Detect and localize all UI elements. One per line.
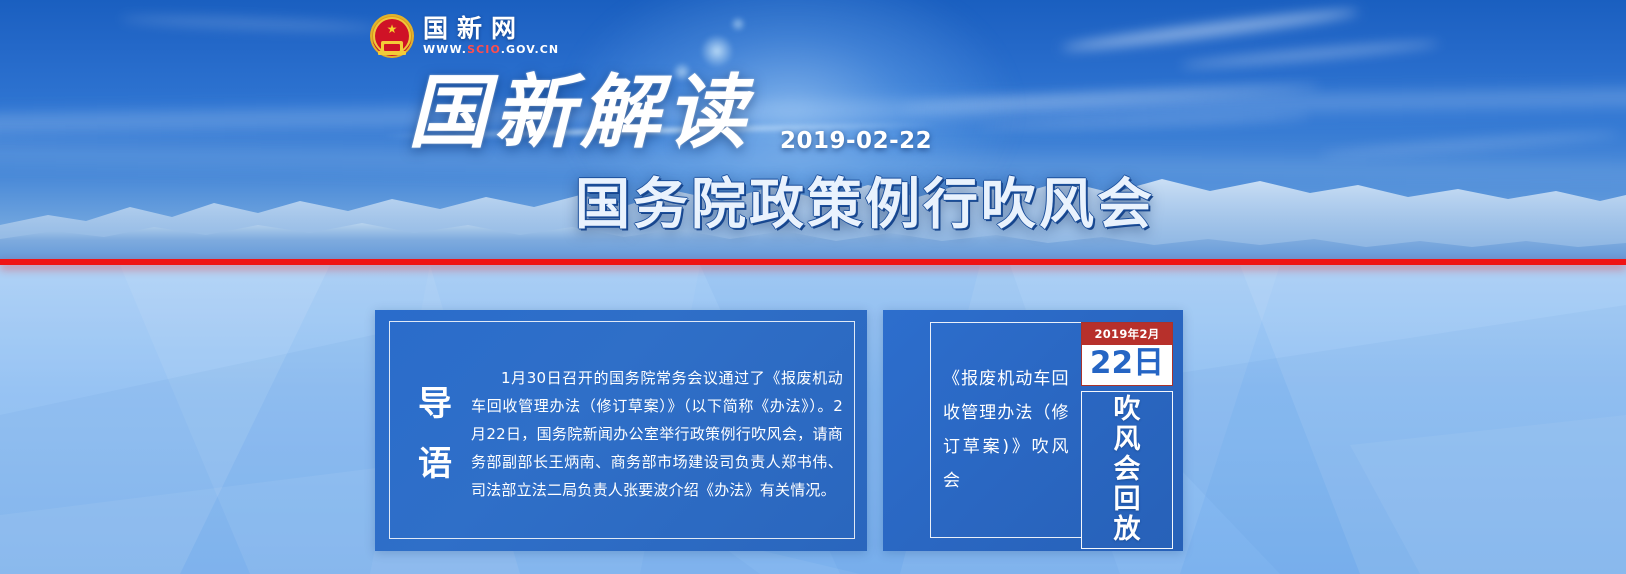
logo-site-url: WWW.SCIO.GOV.CN — [423, 43, 559, 56]
replay-char-4: 回 — [1114, 485, 1141, 515]
light-flare-dot — [672, 62, 692, 82]
date-badge: 2019年2月 22日 — [1081, 322, 1173, 386]
topic-title-box: 《报废机动车回收管理办法（修订草案)》吹风会 — [930, 322, 1081, 538]
topic-side-column: 2019年2月 22日 吹 风 会 回 放 — [1081, 322, 1173, 538]
replay-char-5: 放 — [1114, 515, 1141, 545]
logo-site-name: 国新网 — [423, 16, 559, 42]
logo-text-block: 国新网 WWW.SCIO.GOV.CN — [423, 16, 559, 56]
site-logo[interactable]: ★ 国新网 WWW.SCIO.GOV.CN — [370, 14, 559, 58]
cloud-wisp — [1180, 39, 1440, 71]
replay-char-1: 吹 — [1114, 395, 1141, 425]
cloud-wisp — [120, 13, 380, 33]
logo-url-highlight: SCIO — [467, 43, 501, 56]
national-emblem-icon: ★ — [370, 14, 414, 58]
replay-char-3: 会 — [1114, 455, 1141, 485]
banner-date: 2019-02-22 — [780, 128, 932, 154]
page-subtitle: 国务院政策例行吹风会 — [575, 175, 1155, 233]
light-flare-dot — [700, 34, 734, 68]
replay-char-2: 风 — [1114, 425, 1141, 455]
date-badge-day: 22日 — [1082, 345, 1172, 385]
topic-card-body: 《报废机动车回收管理办法（修订草案)》吹风会 2019年2月 22日 吹 风 会… — [930, 322, 1173, 538]
cards-row: 导 语 1月30日召开的国务院常务会议通过了《报废机动车回收管理办法（修订草案）… — [0, 310, 1626, 555]
cloud-wisp — [1060, 6, 1359, 54]
intro-label-char-1: 导 — [418, 387, 452, 421]
intro-card: 导 语 1月30日召开的国务院常务会议通过了《报废机动车回收管理办法（修订草案）… — [375, 310, 867, 551]
intro-paragraph: 1月30日召开的国务院常务会议通过了《报废机动车回收管理办法（修订草案）》（以下… — [471, 364, 847, 504]
logo-url-suffix: .GOV.CN — [501, 43, 560, 56]
light-flare-dot — [730, 16, 746, 32]
topic-title: 《报废机动车回收管理办法（修订草案)》吹风会 — [943, 362, 1069, 498]
red-divider — [0, 259, 1626, 265]
intro-label-char-2: 语 — [418, 447, 452, 481]
date-badge-month: 2019年2月 — [1082, 323, 1172, 345]
logo-url-prefix: WWW. — [423, 43, 467, 56]
replay-button[interactable]: 吹 风 会 回 放 — [1081, 391, 1173, 549]
intro-label: 导 语 — [397, 387, 463, 481]
intro-card-body: 导 语 1月30日召开的国务院常务会议通过了《报废机动车回收管理办法（修订草案）… — [397, 336, 847, 531]
page-root: ★ 国新网 WWW.SCIO.GOV.CN 国新解读 2019-02-22 国务… — [0, 0, 1626, 574]
topic-card[interactable]: 《报废机动车回收管理办法（修订草案)》吹风会 2019年2月 22日 吹 风 会… — [883, 310, 1183, 551]
